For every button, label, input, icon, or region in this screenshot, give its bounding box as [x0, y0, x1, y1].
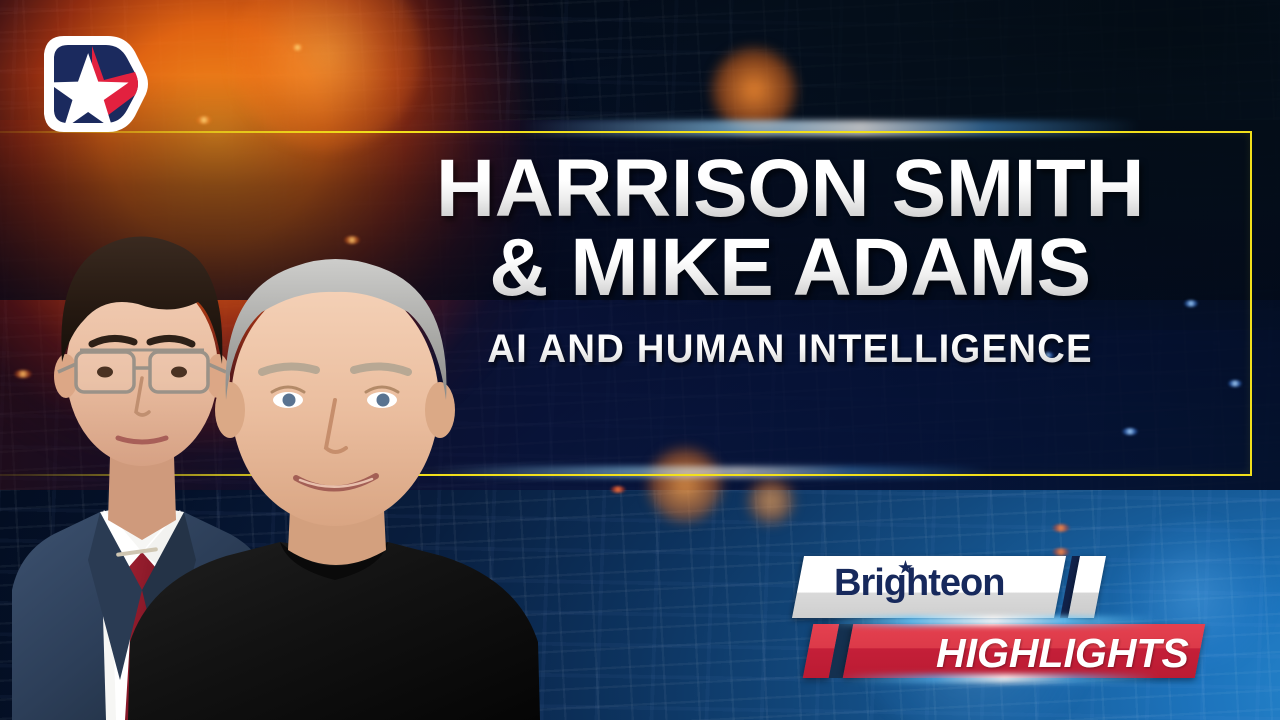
person-mike-adams — [120, 250, 550, 720]
brighteon-play-star-icon[interactable] — [34, 28, 150, 140]
highlights-label: HIGHLIGHTS — [936, 630, 1189, 677]
thumbnail-canvas: HARRISON SMITH & MIKE ADAMS AI AND HUMAN… — [0, 0, 1280, 720]
brighteon-highlights-bug[interactable]: Brighteon HIGHLIGHTS — [788, 556, 1200, 678]
bug-top-glow — [827, 616, 1159, 626]
title-line-1: HARRISON SMITH — [330, 150, 1250, 229]
brighteon-wordmark: Brighteon — [834, 562, 1004, 605]
